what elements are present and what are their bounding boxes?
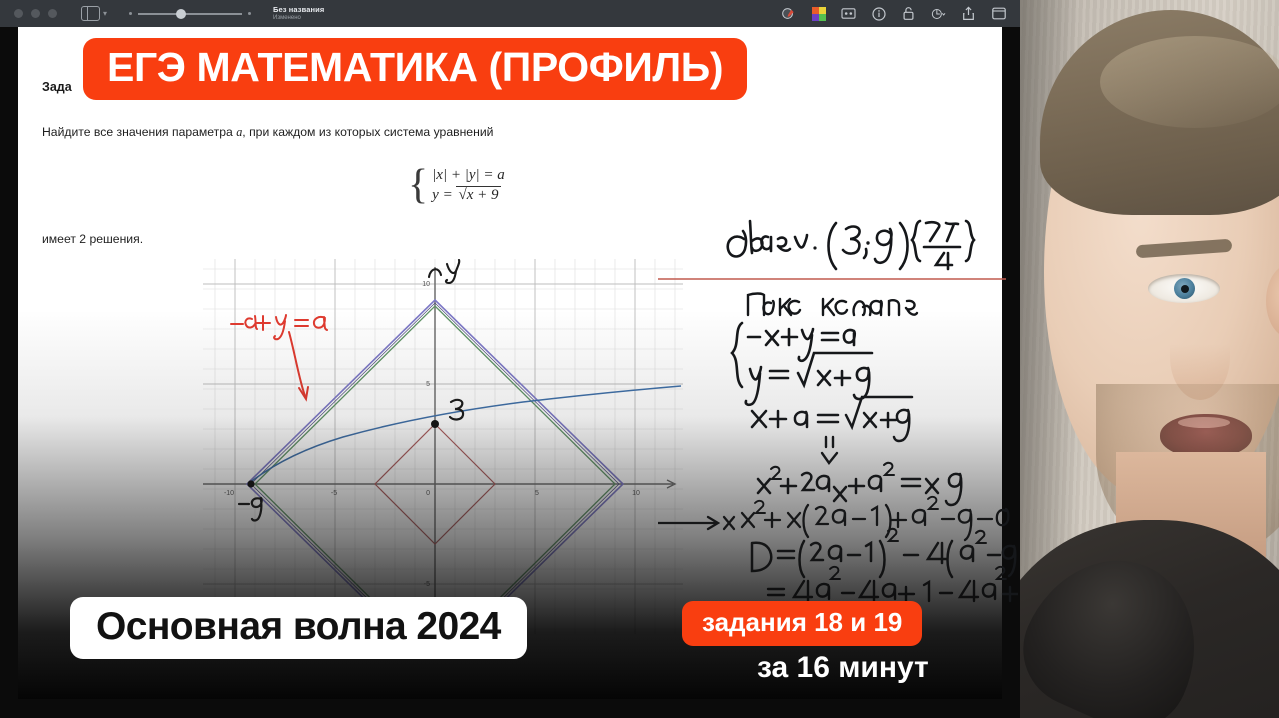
window-title: Без названия (273, 6, 324, 14)
lock-icon[interactable] (901, 6, 916, 21)
sidebar-icon (81, 6, 100, 21)
pupil (1181, 285, 1189, 293)
crop-icon[interactable] (841, 6, 856, 21)
svg-text:5: 5 (535, 490, 539, 497)
minimize-button[interactable] (31, 9, 40, 18)
window-title-block: Без названия Изменено (273, 6, 324, 21)
svg-text:10: 10 (632, 490, 640, 497)
point-minus9-0 (247, 480, 254, 487)
window-subtitle: Изменено (273, 15, 324, 21)
zoom-slider-knob[interactable] (176, 9, 186, 19)
tasks-badge: задания 18 и 19 (682, 601, 922, 646)
window-icon[interactable] (991, 6, 1006, 21)
close-button[interactable] (14, 9, 23, 18)
traffic-lights[interactable] (14, 9, 57, 18)
color-palette-icon[interactable] (811, 6, 826, 21)
markup-pen-icon[interactable] (781, 6, 796, 21)
zoom-slider[interactable] (129, 12, 251, 15)
svg-text:-10: -10 (224, 490, 234, 497)
annotation-line-equation (231, 315, 327, 399)
axes (203, 267, 673, 634)
hair-highlight (1100, 36, 1279, 128)
chevron-down-icon[interactable]: ▾ (103, 10, 107, 18)
wave-banner-text: Основная волна 2024 (96, 605, 501, 648)
svg-text:-5: -5 (331, 490, 337, 497)
task-statement: Найдите все значения параметра a, при ка… (42, 125, 493, 140)
info-circle-icon[interactable] (871, 6, 886, 21)
iris (1174, 278, 1195, 299)
share-icon[interactable] (961, 6, 976, 21)
svg-text:-5: -5 (424, 581, 430, 588)
plot-svg: -10 -5 0 5 10 10 5 -5 (203, 259, 683, 634)
equation-system: { |x| + |y| = a y = √x + 9 (408, 167, 505, 204)
screen-recording-frame: ▾ Без названия Изменено (0, 0, 1279, 718)
handwritten-solution (658, 203, 1018, 643)
task-conclusion: имеет 2 решения. (42, 232, 143, 246)
handwriting-svg (658, 203, 1018, 643)
tasks-badge-text: задания 18 и 19 (702, 607, 902, 637)
task-statement-after: , при каждом из которых система уравнени… (242, 125, 493, 139)
task-statement-before: Найдите все значения параметра (42, 125, 236, 139)
zoom-out-icon[interactable] (129, 12, 132, 15)
svg-text:10: 10 (422, 281, 430, 288)
title-banner: ЕГЭ МАТЕМАТИКА (ПРОФИЛЬ) (83, 38, 747, 100)
system-equation-1: |x| + |y| = a (432, 167, 505, 184)
point-0-3 (431, 420, 439, 428)
tick-labels: -10 -5 0 5 10 10 5 -5 (224, 281, 640, 588)
label-3 (450, 400, 463, 420)
wave-banner: Основная волна 2024 (70, 597, 527, 659)
rotate-icon[interactable] (931, 6, 946, 21)
duration-caption-text: за 16 минут (757, 651, 929, 684)
webcam-overlay (1020, 0, 1279, 718)
eyebrow (1136, 239, 1233, 259)
duration-caption: за 16 минут (757, 653, 929, 683)
title-banner-text: ЕГЭ МАТЕМАТИКА (ПРОФИЛЬ) (107, 44, 723, 90)
window-titlebar: ▾ Без названия Изменено (0, 0, 1020, 27)
svg-text:5: 5 (426, 381, 430, 388)
task-number-label: Зада (42, 80, 72, 94)
coordinate-plot: -10 -5 0 5 10 10 5 -5 (203, 259, 683, 634)
zoom-button[interactable] (48, 9, 57, 18)
zoom-in-icon[interactable] (248, 12, 251, 15)
ear (1266, 264, 1279, 338)
eye (1148, 274, 1220, 303)
system-brace: { (408, 169, 428, 203)
system-equation-2: y = √x + 9 (432, 187, 505, 204)
sidebar-toggle-button[interactable]: ▾ (81, 6, 107, 21)
minor-grid (203, 259, 683, 634)
zoom-slider-track[interactable] (138, 13, 242, 15)
toolbar-right (781, 6, 1006, 21)
svg-text:0: 0 (426, 490, 430, 497)
